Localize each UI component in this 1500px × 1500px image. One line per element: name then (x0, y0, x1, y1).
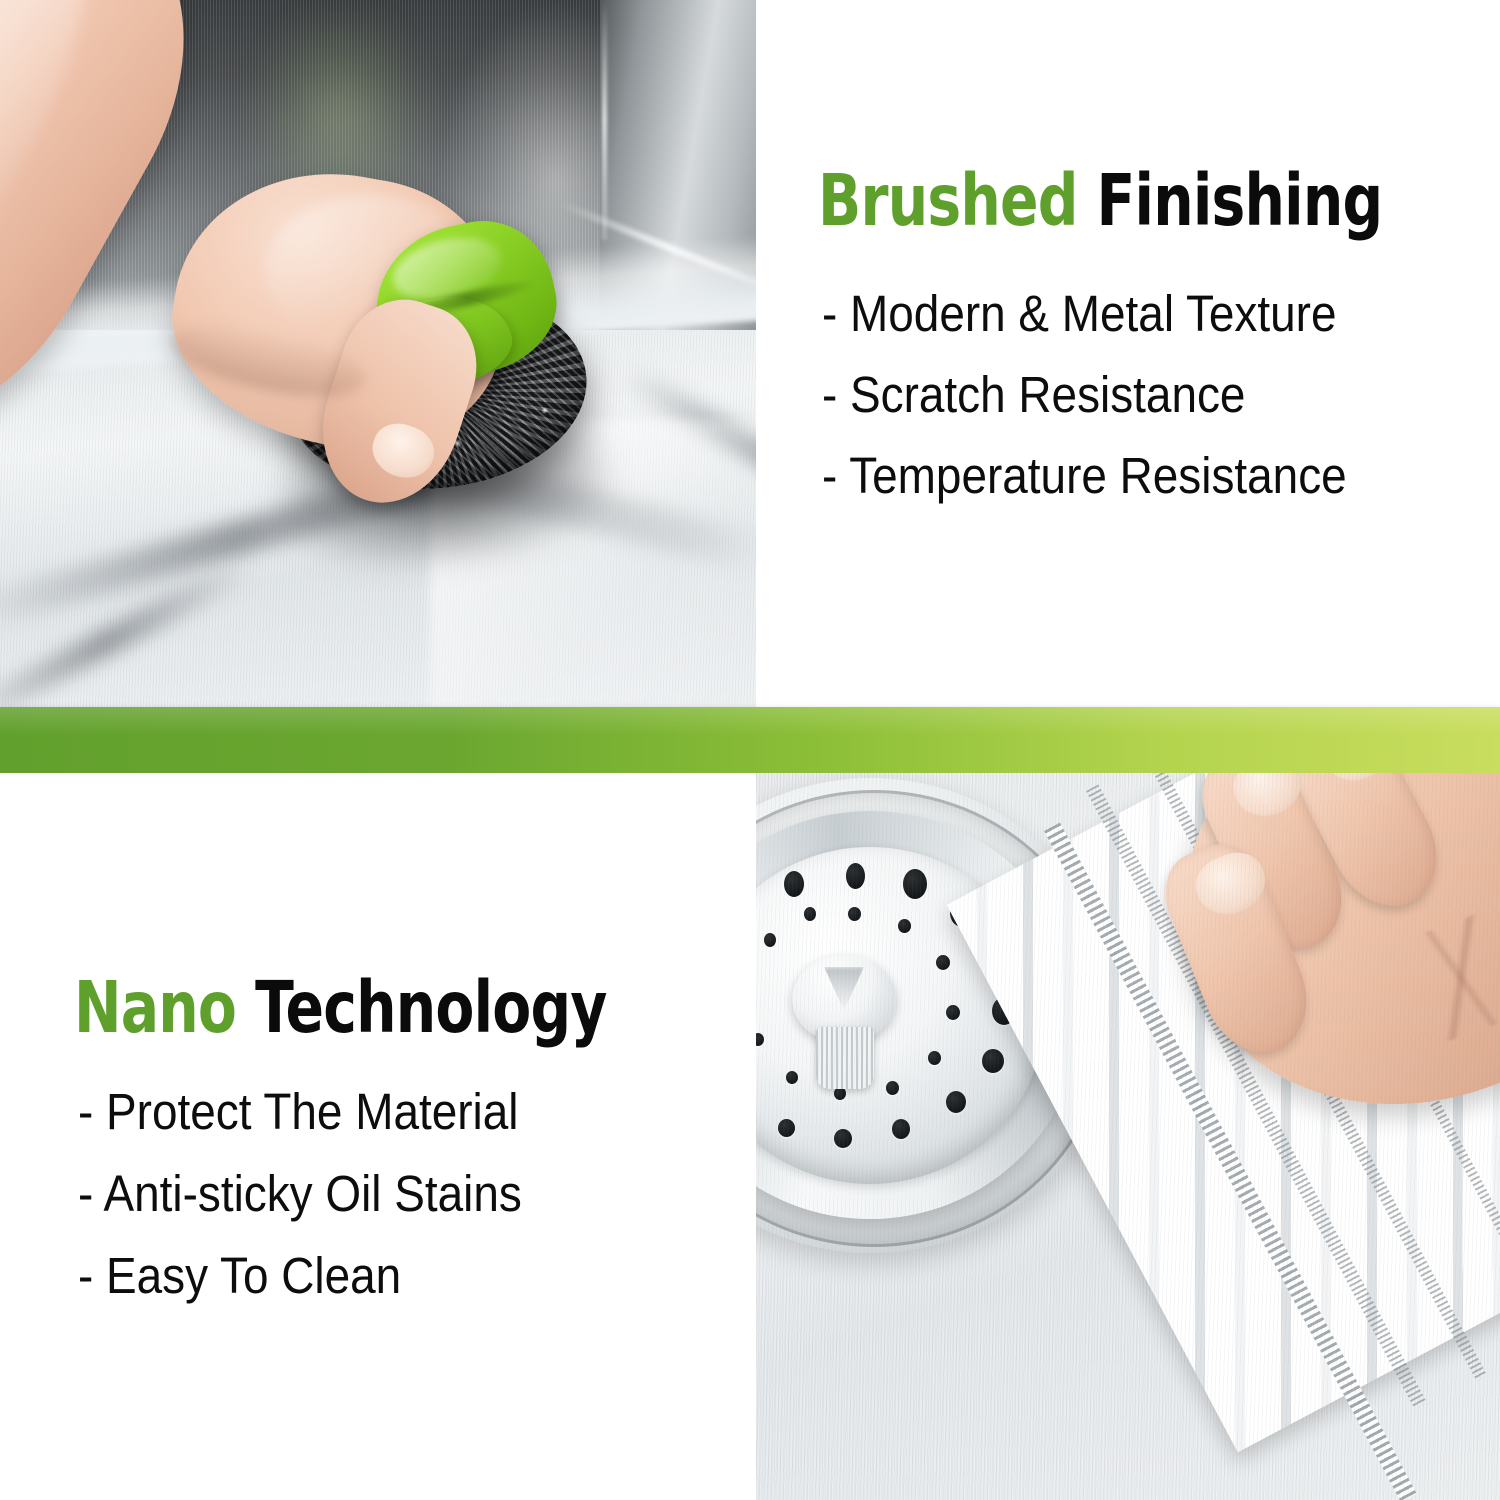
strainer-hole (936, 955, 950, 970)
drain-knob-stem (816, 1027, 874, 1089)
strainer-hole (784, 871, 804, 897)
strainer-hole (892, 1119, 910, 1139)
strainer-hole (946, 1091, 966, 1113)
strainer-hole (764, 933, 776, 947)
green-gradient-divider (0, 707, 1500, 773)
sink-corner-scrubbing-photo (0, 0, 756, 707)
nano-technology-heading: Nano Technology (74, 972, 607, 1043)
strainer-hole (982, 1049, 1004, 1073)
strainer-hole (804, 907, 816, 921)
strainer-hole (756, 1033, 764, 1046)
strainer-hole (946, 1005, 960, 1020)
strainer-hole (834, 1129, 852, 1148)
nano-technology-bullet-list: - Protect The Material - Anti-sticky Oil… (78, 1086, 571, 1332)
sink-corner-seam (602, 0, 607, 240)
brushed-finishing-heading: Brushed Finishing (818, 165, 1382, 236)
heading-highlight-word: Brushed (818, 159, 1078, 242)
strainer-hole (903, 869, 927, 899)
list-item: - Easy To Clean (78, 1250, 522, 1301)
list-item: - Modern & Metal Texture (822, 288, 1347, 339)
strainer-hole (848, 907, 861, 921)
heading-plain-word: Technology (255, 966, 606, 1049)
brushed-finishing-bullet-list: - Modern & Metal Texture - Scratch Resis… (822, 288, 1405, 531)
list-item: - Anti-sticky Oil Stains (78, 1168, 522, 1219)
strainer-hole (928, 1051, 941, 1065)
product-feature-infographic: Brushed Finishing - Modern & Metal Textu… (0, 0, 1500, 1500)
list-item: - Scratch Resistance (822, 369, 1347, 420)
strainer-hole (898, 919, 911, 933)
top-panel: Brushed Finishing - Modern & Metal Textu… (0, 0, 1500, 707)
divider-gloss (0, 707, 1500, 735)
strainer-hole (886, 1081, 899, 1095)
sink-drain-wiping-photo (756, 773, 1500, 1500)
list-item: - Temperature Resistance (822, 450, 1347, 501)
heading-highlight-word: Nano (74, 966, 236, 1049)
list-item: - Protect The Material (78, 1086, 522, 1137)
strainer-hole (786, 1071, 798, 1084)
strainer-hole (846, 863, 865, 889)
strainer-hole (778, 1119, 795, 1137)
heading-plain-word: Finishing (1097, 159, 1383, 242)
